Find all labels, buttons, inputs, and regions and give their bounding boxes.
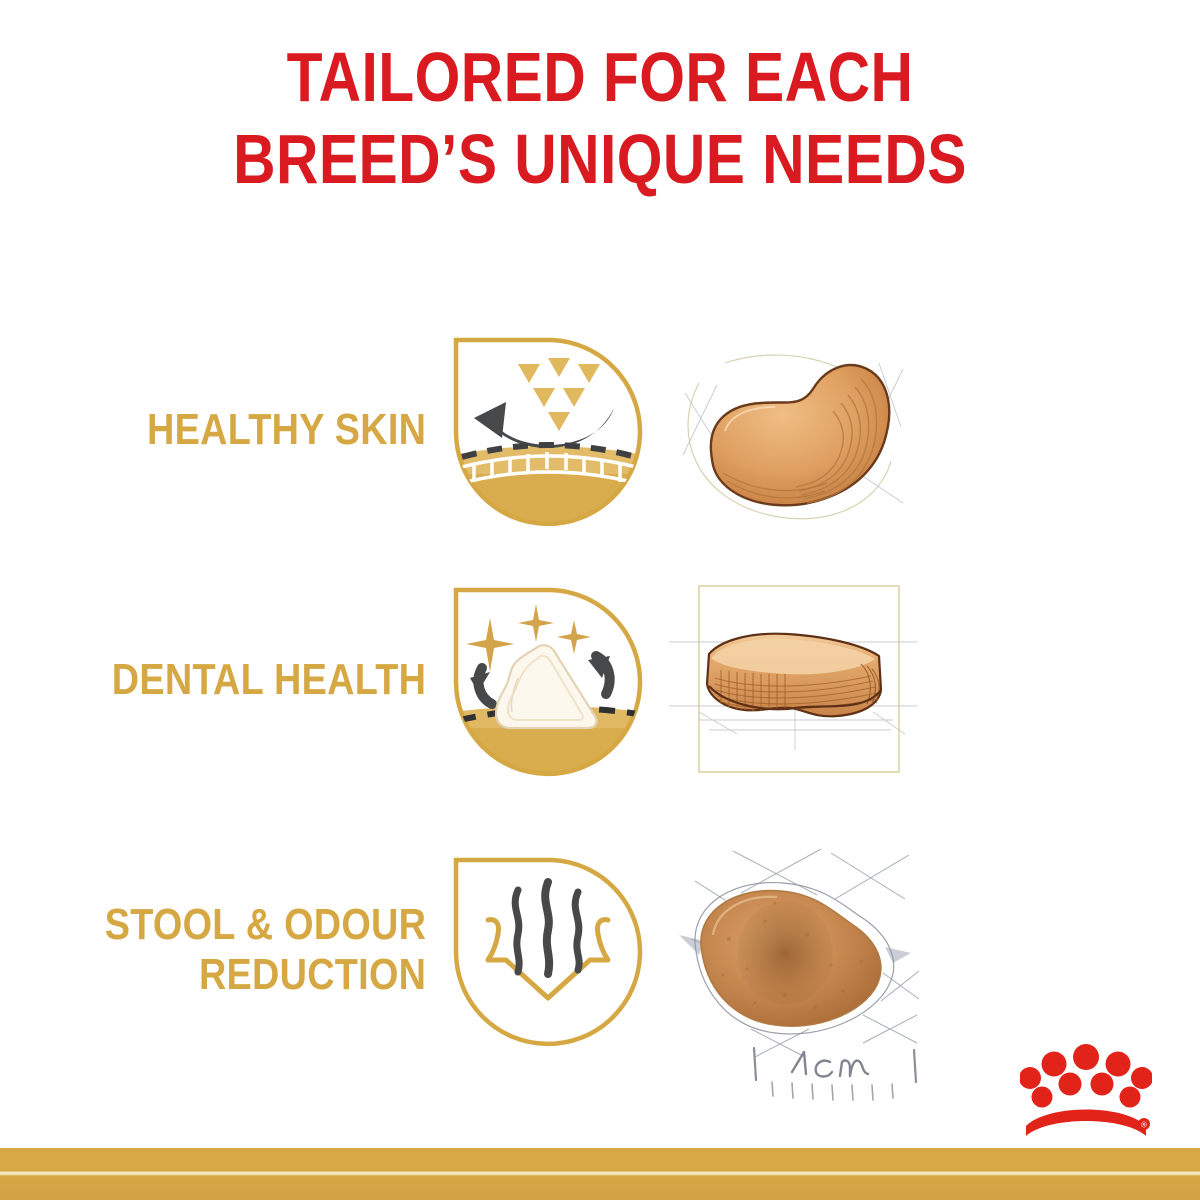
benefit-label-line-1: STOOL & ODOUR [62, 900, 427, 950]
scale-ruler-svg: 1cm [742, 1038, 942, 1113]
nutrient-triangles [518, 358, 600, 431]
kibble-side-view [665, 573, 965, 788]
kibble-side-view-svg [665, 580, 925, 780]
scale-label [792, 1052, 868, 1077]
absorption-arrow [474, 402, 614, 448]
kibble-curved-top-view [665, 323, 965, 538]
kibble-bean-shape [665, 843, 965, 1058]
scale-ruler: 1cm [742, 1038, 942, 1113]
benefit-label-line-1: DENTAL HEALTH [62, 655, 427, 705]
tooth-shape [496, 645, 597, 728]
page-title-line-1: TAILORED FOR EACH [96, 36, 1104, 118]
benefit-label-stool-odour-reduction: STOOL & ODOUR REDUCTION [62, 900, 440, 1000]
royal-canin-crown-logo: ® [1020, 1040, 1152, 1144]
healthy-skin-icon [440, 328, 655, 533]
infographic-poster: TAILORED FOR EACH BREED’S UNIQUE NEEDS H… [0, 0, 1200, 1200]
benefit-row-healthy-skin: HEALTHY SKIN [0, 325, 1200, 535]
benefit-label-line-1: HEALTHY SKIN [62, 405, 427, 455]
benefit-label-healthy-skin: HEALTHY SKIN [62, 405, 440, 455]
dental-health-icon [440, 578, 655, 783]
benefit-row-stool-odour-reduction: STOOL & ODOUR REDUCTION [0, 845, 1200, 1055]
kibble-curved-top-view-svg [665, 335, 915, 525]
royal-canin-crown-logo-svg: ® [1020, 1040, 1152, 1144]
stool-odour-reduction-icon-svg [448, 852, 648, 1048]
registered-trademark-mark: ® [1138, 1118, 1150, 1130]
dental-health-icon-svg [448, 582, 648, 778]
bottom-gold-bar [0, 1148, 1200, 1200]
kibble-bean-shape-svg [665, 843, 925, 1058]
page-title-line-2: BREED’S UNIQUE NEEDS [96, 118, 1104, 200]
healthy-skin-icon-svg [448, 332, 648, 528]
benefit-label-dental-health: DENTAL HEALTH [62, 655, 440, 705]
svg-text:®: ® [1141, 1121, 1147, 1130]
benefit-row-dental-health: DENTAL HEALTH [0, 575, 1200, 785]
benefit-label-line-2: REDUCTION [62, 950, 427, 1000]
stool-odour-reduction-icon [440, 848, 655, 1053]
page-title: TAILORED FOR EACH BREED’S UNIQUE NEEDS [96, 36, 1104, 200]
